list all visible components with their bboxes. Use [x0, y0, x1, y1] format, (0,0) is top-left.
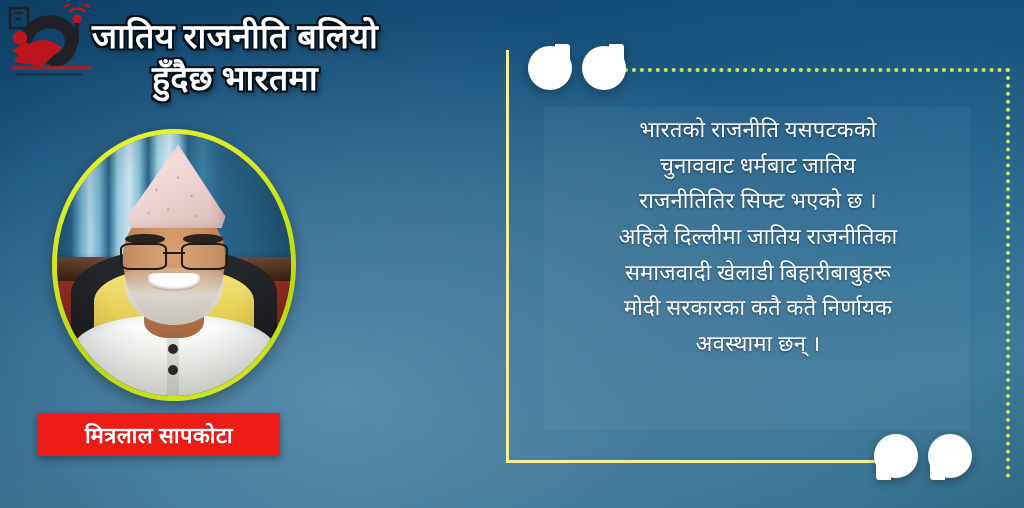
- quote-line: मोदी सरकारका कतै कतै निर्णायक: [538, 290, 978, 326]
- quote-line: राजनीतितिर सिफ्ट भएको छ ।: [538, 183, 978, 219]
- speaker-name-label: मित्रलाल सापकोटा: [85, 420, 233, 450]
- quote-line: चुनाववाट धर्मबाट जातिय: [538, 148, 978, 184]
- radio-broadcast-logo-watermark-icon: [6, 4, 110, 82]
- quote-line: समाजवादी खेलाडी बिहारीबाबुहरू: [538, 255, 978, 291]
- speaker-portrait: [52, 129, 296, 401]
- quote-line: अहिले दिल्लीमा जातिय राजनीतिका: [538, 219, 978, 255]
- close-quote-icon: [874, 434, 972, 478]
- speaker-name-tag: मित्रलाल सापकोटा: [38, 413, 280, 456]
- close-quote-glyph-2: [928, 434, 972, 478]
- open-quote-glyph-2: [582, 46, 626, 90]
- portrait-photo: [57, 134, 291, 396]
- photo-vignette: [57, 134, 291, 396]
- quote-card: भारतको राजनीति यसपटकको चुनाववाट धर्मबाट …: [498, 28, 1006, 484]
- close-quote-glyph-1: [874, 434, 918, 478]
- open-quote-glyph-1: [528, 46, 572, 90]
- quote-line: भारतको राजनीति यसपटकको: [538, 112, 978, 148]
- quote-card-canvas: जातिय राजनीति बलियो हुँदैछ भारतमा: [0, 0, 1024, 508]
- open-quote-icon: [528, 46, 626, 90]
- left-panel: जातिय राजनीति बलियो हुँदैछ भारतमा: [0, 0, 480, 508]
- quote-text: भारतको राजनीति यसपटकको चुनाववाट धर्मबाट …: [538, 112, 978, 361]
- quote-line: अवस्थामा छन् ।: [538, 326, 978, 362]
